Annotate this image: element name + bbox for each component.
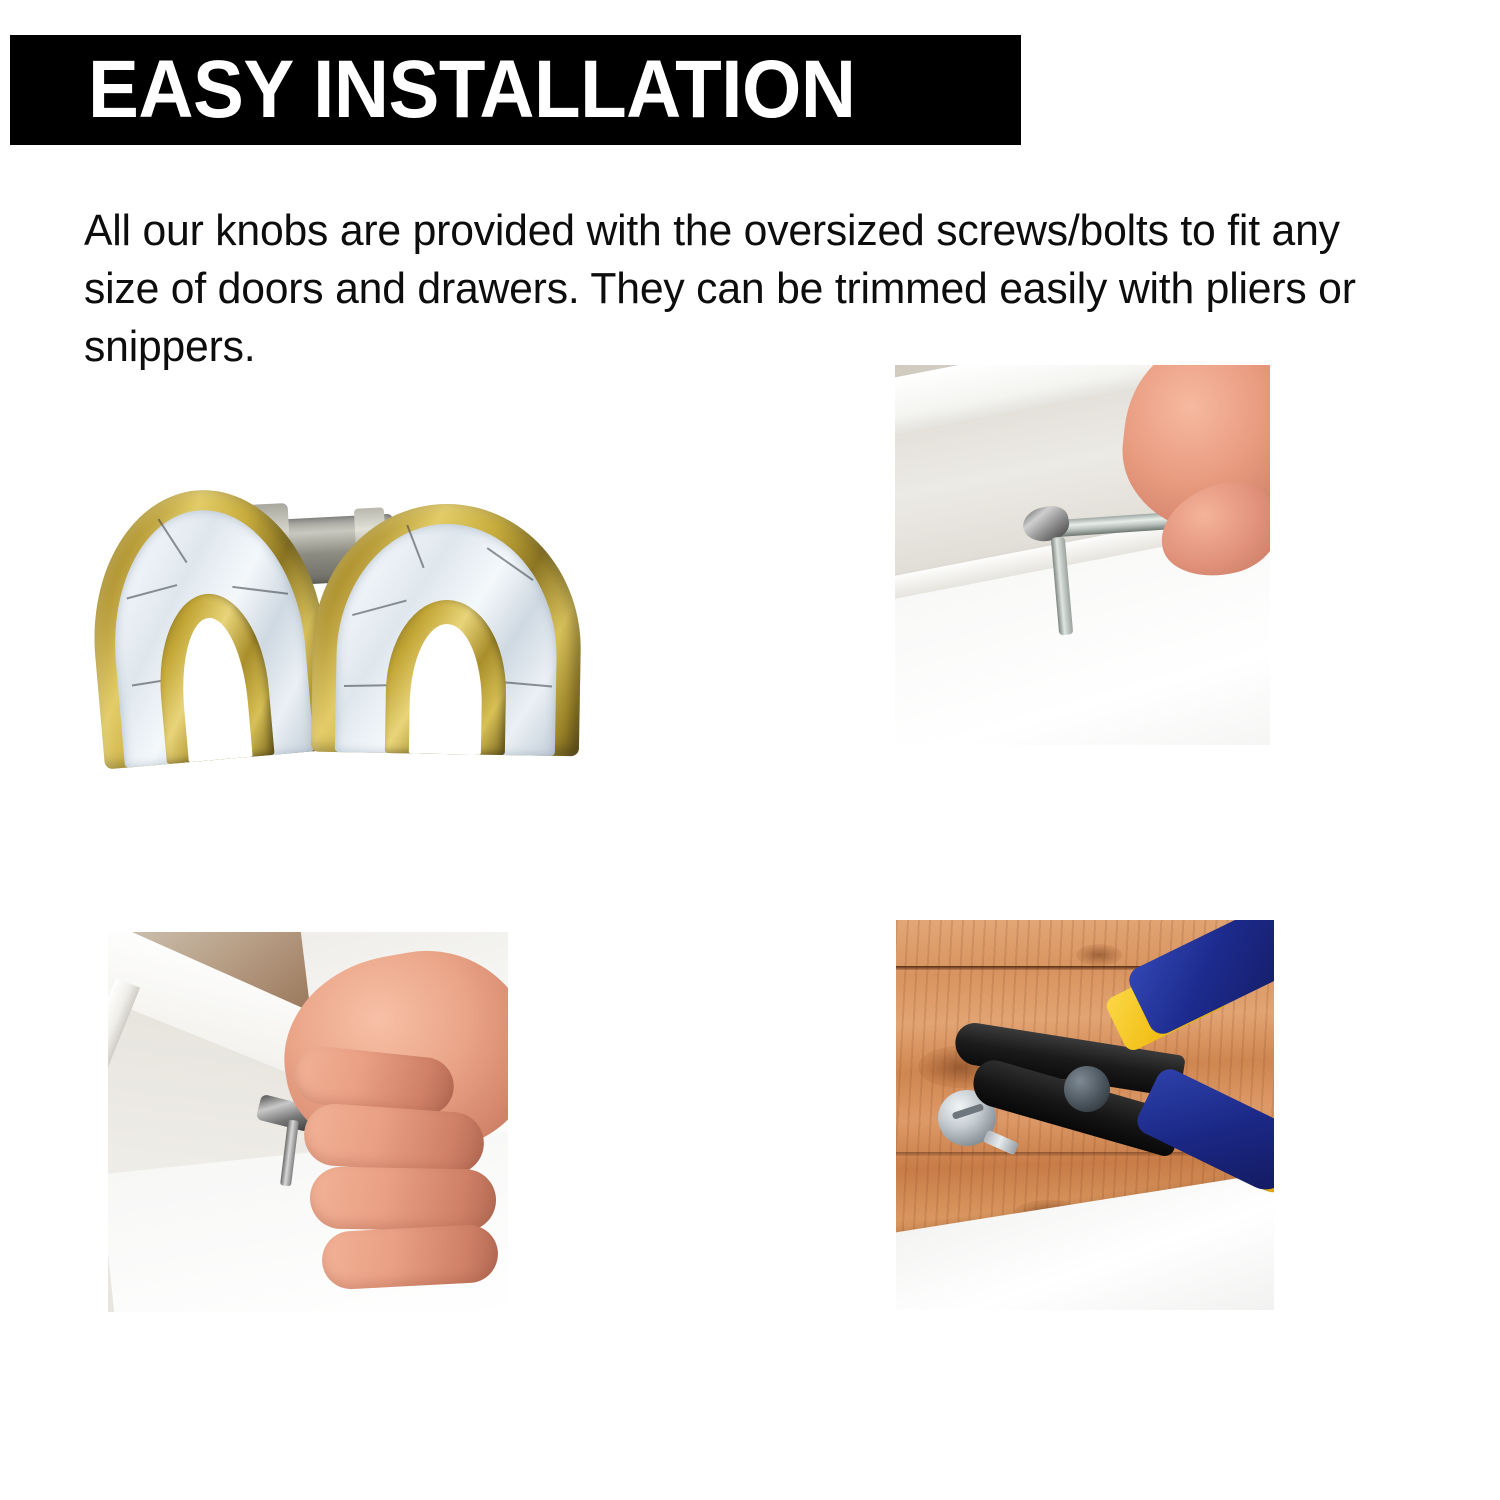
wood-knot-shape <box>1076 944 1122 966</box>
plier-pivot-shape <box>1064 1066 1110 1112</box>
description-text: All our knobs are provided with the over… <box>84 202 1374 376</box>
knob-right-shape <box>311 502 583 757</box>
knob-left-shape <box>85 480 334 769</box>
header-banner: EASY INSTALLATION <box>10 35 1021 145</box>
page-title: EASY INSTALLATION <box>88 49 855 131</box>
inserting-bolt-photo <box>895 365 1270 745</box>
product-knobs-photo <box>85 470 625 790</box>
tightening-screw-photo <box>108 932 508 1312</box>
finger-shape <box>321 1223 500 1290</box>
finger-shape <box>309 1166 496 1231</box>
finger-shape <box>302 1102 486 1176</box>
knob-illustration <box>85 470 625 790</box>
trimming-pliers-photo <box>896 920 1274 1310</box>
